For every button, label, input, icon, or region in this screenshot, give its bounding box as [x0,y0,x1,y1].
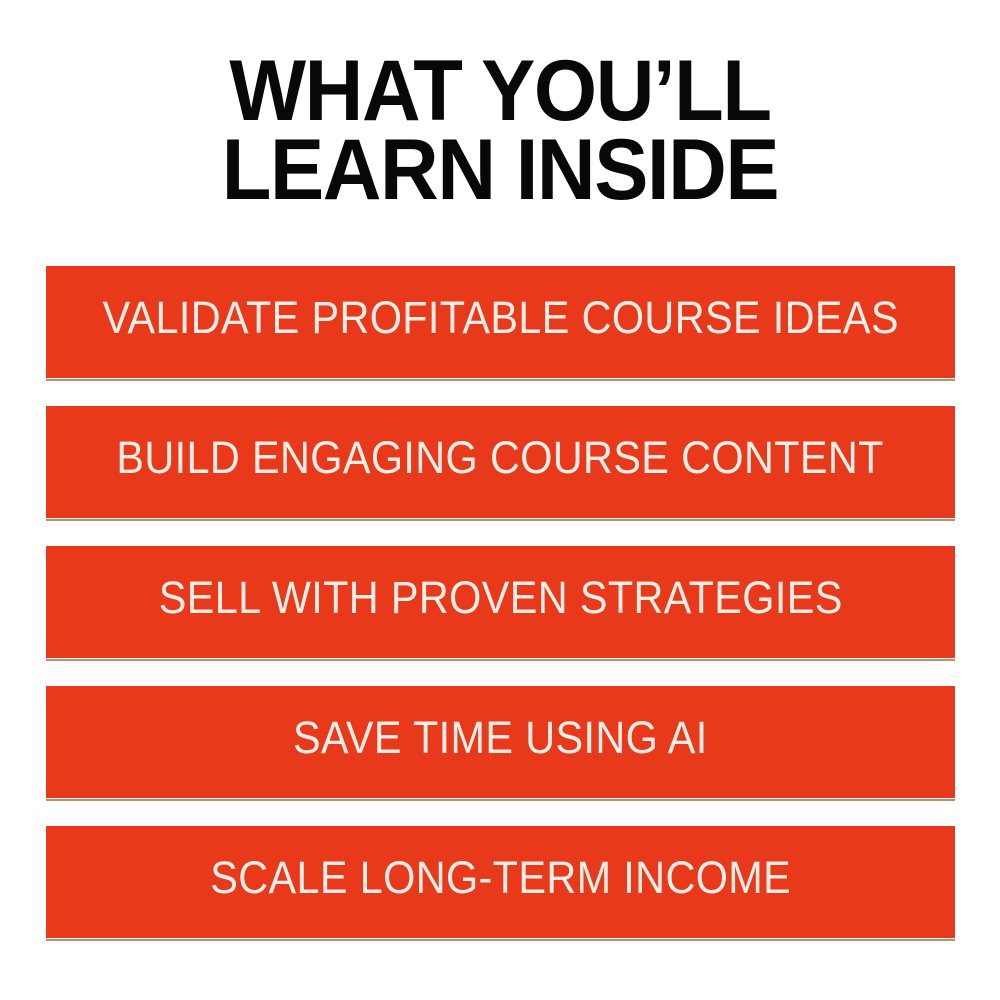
benefit-label-1: VALIDATE PROFITABLE COURSE IDEAS [102,295,898,340]
benefit-label-4: SAVE TIME USING AI [293,715,708,760]
benefit-label-3: SELL WITH PROVEN STRATEGIES [159,575,843,620]
benefit-bar-2: BUILD ENGAGING COURSE CONTENT [46,406,955,518]
benefit-label-2: BUILD ENGAGING COURSE CONTENT [117,435,884,480]
benefit-bar-5: SCALE LONG-TERM INCOME [46,826,955,938]
benefit-bar-3: SELL WITH PROVEN STRATEGIES [46,546,955,658]
promo-poster: WHAT YOU’LL LEARN INSIDE VALIDATE PROFIT… [0,0,1000,1000]
benefit-list: VALIDATE PROFITABLE COURSE IDEAS BUILD E… [46,266,955,938]
page-title-line-1: WHAT YOU’LL [28,52,973,131]
page-title: WHAT YOU’LL LEARN INSIDE [28,52,973,210]
benefit-bar-4: SAVE TIME USING AI [46,686,955,798]
benefit-bar-1: VALIDATE PROFITABLE COURSE IDEAS [46,266,955,378]
page-title-line-2: LEARN INSIDE [28,131,973,210]
benefit-label-5: SCALE LONG-TERM INCOME [210,855,791,900]
